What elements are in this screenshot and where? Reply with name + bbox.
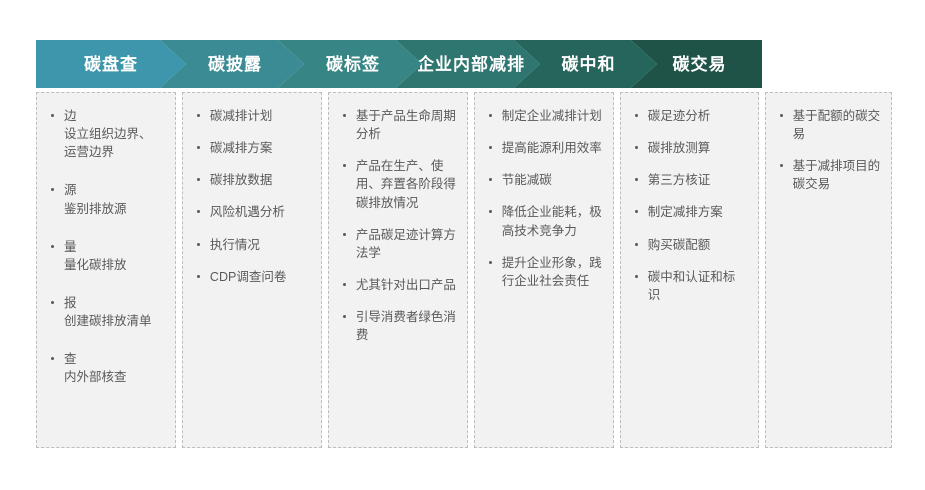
process-flow-diagram: 碳盘查碳披露碳标签企业内部减排碳中和碳交易 边设立组织边界、运营边界源鉴别排放源… bbox=[0, 0, 925, 490]
content-panel-row: 边设立组织边界、运营边界源鉴别排放源量量化碳排放报创建碳排放清单查内外部核查碳减… bbox=[36, 92, 892, 448]
list-item[interactable]: CDP调查问卷 bbox=[193, 268, 311, 286]
chevron-step-label: 企业内部减排 bbox=[411, 56, 525, 73]
panel-carbon-trading: 基于配额的碳交易基于减排项目的碳交易 bbox=[765, 92, 892, 448]
panel-internal-emission-reduction: 制定企业减排计划提高能源利用效率节能减碳降低企业能耗，极高技术竞争力提升企业形象… bbox=[474, 92, 614, 448]
list-item[interactable]: 基于减排项目的碳交易 bbox=[776, 157, 881, 193]
list-item-title: 碳中和认证和标识 bbox=[648, 268, 748, 304]
panel-carbon-disclosure: 碳减排计划碳减排方案碳排放数据风险机遇分析执行情况CDP调查问卷 bbox=[182, 92, 322, 448]
list-item-title: 源 bbox=[64, 181, 165, 199]
chevron-step-label: 碳标签 bbox=[320, 56, 380, 73]
list-item[interactable]: 购买碳配额 bbox=[631, 236, 748, 254]
list-item-title: 碳足迹分析 bbox=[648, 107, 748, 125]
bullet-list: 制定企业减排计划提高能源利用效率节能减碳降低企业能耗，极高技术竞争力提升企业形象… bbox=[485, 107, 603, 290]
list-item[interactable]: 碳排放数据 bbox=[193, 171, 311, 189]
list-item-title: 执行情况 bbox=[210, 236, 311, 254]
list-item-title: 查 bbox=[64, 350, 165, 368]
list-item[interactable]: 报创建碳排放清单 bbox=[47, 294, 165, 330]
list-item-subtitle: 设立组织边界、运营边界 bbox=[64, 125, 165, 161]
panel-carbon-neutrality: 碳足迹分析碳排放测算第三方核证制定减排方案购买碳配额碳中和认证和标识 bbox=[620, 92, 759, 448]
list-item-title: 引导消费者绿色消费 bbox=[356, 308, 457, 344]
chevron-header-row: 碳盘查碳披露碳标签企业内部减排碳中和碳交易 bbox=[36, 40, 892, 88]
list-item[interactable]: 降低企业能耗，极高技术竞争力 bbox=[485, 203, 603, 239]
list-item[interactable]: 查内外部核查 bbox=[47, 350, 165, 386]
list-item[interactable]: 基于产品生命周期分析 bbox=[339, 107, 457, 143]
list-item-title: 尤其针对出口产品 bbox=[356, 276, 457, 294]
list-item-subtitle: 鉴别排放源 bbox=[64, 200, 165, 218]
list-item-title: 碳排放数据 bbox=[210, 171, 311, 189]
list-item[interactable]: 产品在生产、使用、弃置各阶段得碳排放情况 bbox=[339, 157, 457, 211]
chevron-step-label: 碳盘查 bbox=[84, 56, 138, 73]
list-item-subtitle: 创建碳排放清单 bbox=[64, 312, 165, 330]
list-item-title: 边 bbox=[64, 107, 165, 125]
list-item-title: 第三方核证 bbox=[648, 171, 748, 189]
list-item[interactable]: 边设立组织边界、运营边界 bbox=[47, 107, 165, 161]
list-item-title: 基于配额的碳交易 bbox=[793, 107, 881, 143]
list-item[interactable]: 基于配额的碳交易 bbox=[776, 107, 881, 143]
list-item[interactable]: 提升企业形象，践行企业社会责任 bbox=[485, 254, 603, 290]
bullet-list: 基于产品生命周期分析产品在生产、使用、弃置各阶段得碳排放情况产品碳足迹计算方法学… bbox=[339, 107, 457, 344]
list-item-subtitle: 量化碳排放 bbox=[64, 256, 165, 274]
list-item-title: 碳减排方案 bbox=[210, 139, 311, 157]
list-item-title: 降低企业能耗，极高技术竞争力 bbox=[502, 203, 603, 239]
chevron-step-label: 碳披露 bbox=[202, 56, 262, 73]
list-item[interactable]: 量量化碳排放 bbox=[47, 238, 165, 274]
bullet-list: 边设立组织边界、运营边界源鉴别排放源量量化碳排放报创建碳排放清单查内外部核查 bbox=[47, 107, 165, 386]
list-item[interactable]: 制定减排方案 bbox=[631, 203, 748, 221]
chevron-step-label: 碳交易 bbox=[667, 56, 727, 73]
list-item[interactable]: 尤其针对出口产品 bbox=[339, 276, 457, 294]
list-item-title: 基于减排项目的碳交易 bbox=[793, 157, 881, 193]
list-item-title: 节能减碳 bbox=[502, 171, 603, 189]
list-item[interactable]: 碳减排计划 bbox=[193, 107, 311, 125]
list-item-title: 制定减排方案 bbox=[648, 203, 748, 221]
list-item[interactable]: 执行情况 bbox=[193, 236, 311, 254]
list-item[interactable]: 碳减排方案 bbox=[193, 139, 311, 157]
list-item[interactable]: 风险机遇分析 bbox=[193, 203, 311, 221]
list-item[interactable]: 碳足迹分析 bbox=[631, 107, 748, 125]
list-item-title: 提高能源利用效率 bbox=[502, 139, 603, 157]
list-item-title: 基于产品生命周期分析 bbox=[356, 107, 457, 143]
bullet-list: 基于配额的碳交易基于减排项目的碳交易 bbox=[776, 107, 881, 194]
list-item-title: 风险机遇分析 bbox=[210, 203, 311, 221]
list-item-title: 提升企业形象，践行企业社会责任 bbox=[502, 254, 603, 290]
list-item-title: 碳减排计划 bbox=[210, 107, 311, 125]
list-item[interactable]: 源鉴别排放源 bbox=[47, 181, 165, 217]
list-item[interactable]: 制定企业减排计划 bbox=[485, 107, 603, 125]
list-item-title: 制定企业减排计划 bbox=[502, 107, 603, 125]
list-item-title: 报 bbox=[64, 294, 165, 312]
bullet-list: 碳减排计划碳减排方案碳排放数据风险机遇分析执行情况CDP调查问卷 bbox=[193, 107, 311, 286]
chevron-step-label: 碳中和 bbox=[556, 56, 616, 73]
list-item-title: 碳排放测算 bbox=[648, 139, 748, 157]
bullet-list: 碳足迹分析碳排放测算第三方核证制定减排方案购买碳配额碳中和认证和标识 bbox=[631, 107, 748, 304]
list-item[interactable]: 产品碳足迹计算方法学 bbox=[339, 226, 457, 262]
list-item-title: 产品碳足迹计算方法学 bbox=[356, 226, 457, 262]
list-item-title: 购买碳配额 bbox=[648, 236, 748, 254]
list-item[interactable]: 碳排放测算 bbox=[631, 139, 748, 157]
list-item[interactable]: 提高能源利用效率 bbox=[485, 139, 603, 157]
list-item[interactable]: 引导消费者绿色消费 bbox=[339, 308, 457, 344]
list-item-title: 产品在生产、使用、弃置各阶段得碳排放情况 bbox=[356, 157, 457, 211]
list-item[interactable]: 碳中和认证和标识 bbox=[631, 268, 748, 304]
panel-carbon-inventory: 边设立组织边界、运营边界源鉴别排放源量量化碳排放报创建碳排放清单查内外部核查 bbox=[36, 92, 176, 448]
chevron-step-1[interactable]: 碳盘查 bbox=[36, 40, 186, 88]
list-item[interactable]: 节能减碳 bbox=[485, 171, 603, 189]
list-item[interactable]: 第三方核证 bbox=[631, 171, 748, 189]
list-item-title: CDP调查问卷 bbox=[210, 268, 311, 286]
list-item-title: 量 bbox=[64, 238, 165, 256]
list-item-subtitle: 内外部核查 bbox=[64, 368, 165, 386]
panel-carbon-label: 基于产品生命周期分析产品在生产、使用、弃置各阶段得碳排放情况产品碳足迹计算方法学… bbox=[328, 92, 468, 448]
